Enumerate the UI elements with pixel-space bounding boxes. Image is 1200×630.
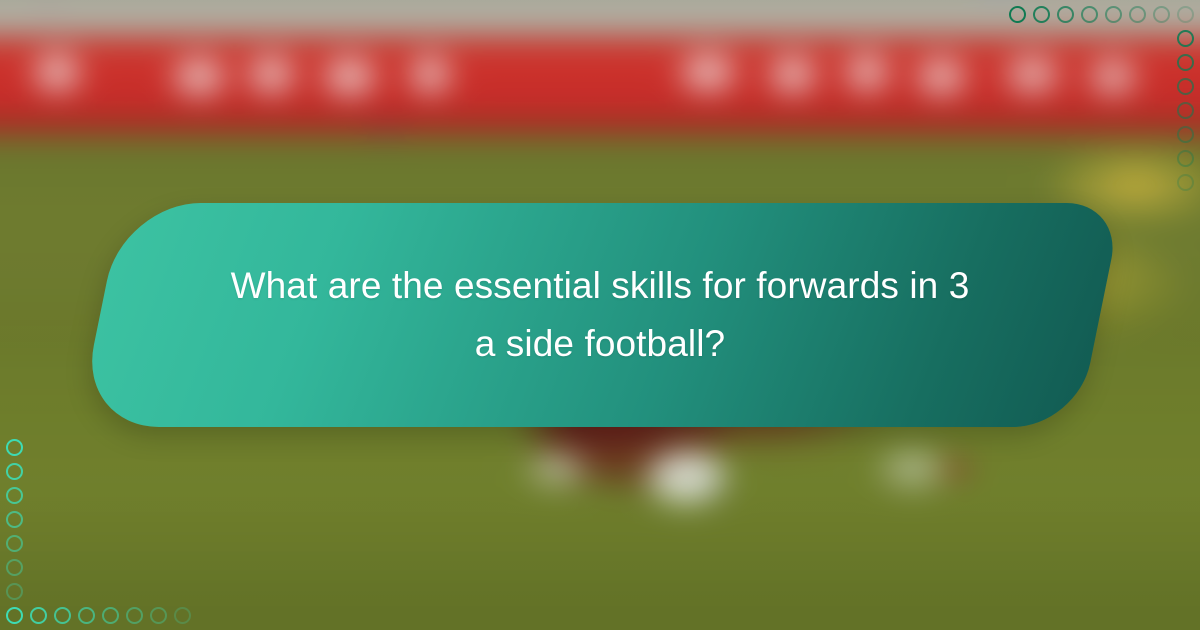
decor-dot	[174, 607, 191, 624]
decor-dot	[1081, 6, 1098, 23]
decor-dot	[1153, 6, 1170, 23]
decor-dot	[126, 607, 143, 624]
decorative-dots-top-right	[1003, 0, 1200, 197]
question-line-1: What are the essential skills for forwar…	[231, 257, 970, 315]
decor-dot	[30, 607, 47, 624]
decor-dot	[1177, 102, 1194, 119]
decor-dot	[1177, 54, 1194, 71]
decor-dot	[102, 607, 119, 624]
decor-dot	[54, 607, 71, 624]
decor-dot	[1177, 78, 1194, 95]
question-line-2: a side football?	[475, 315, 726, 373]
decor-dot	[1057, 6, 1074, 23]
decor-dot	[1033, 6, 1050, 23]
decor-dot	[6, 607, 23, 624]
decor-dot	[6, 535, 23, 552]
decor-dot	[1105, 6, 1122, 23]
decor-dot	[6, 559, 23, 576]
decor-dot	[1009, 6, 1026, 23]
screenshot-canvas: What are the essential skills for forwar…	[0, 0, 1200, 630]
decor-dot	[6, 511, 23, 528]
decor-dot	[1129, 6, 1146, 23]
decor-dot	[1177, 150, 1194, 167]
decor-dot	[78, 607, 95, 624]
decor-dot	[6, 463, 23, 480]
decor-dot	[1177, 6, 1194, 23]
decor-dot	[1177, 30, 1194, 47]
question-card: What are the essential skills for forwar…	[100, 203, 1100, 427]
decorative-dots-bottom-left	[0, 433, 197, 630]
decor-dot	[6, 439, 23, 456]
decor-dot	[1177, 174, 1194, 191]
decor-dot	[150, 607, 167, 624]
question-card-text: What are the essential skills for forwar…	[100, 203, 1100, 427]
decor-dot	[1177, 126, 1194, 143]
decor-dot	[6, 583, 23, 600]
decor-dot	[6, 487, 23, 504]
